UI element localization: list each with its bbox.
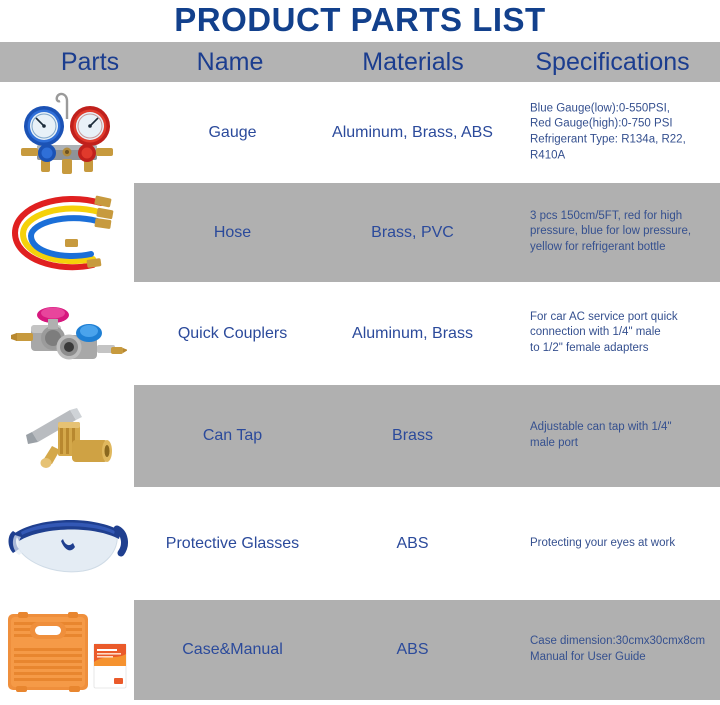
column-header-materials: Materials bbox=[318, 42, 508, 82]
row-name-cell: Gauge bbox=[145, 124, 320, 142]
charging-hoses-image bbox=[0, 183, 134, 282]
row-specifications-cell: Protecting your eyes at work bbox=[530, 536, 715, 552]
row-materials-cell: ABS bbox=[320, 641, 505, 659]
case-and-manual-image bbox=[0, 600, 134, 700]
column-header-name: Name bbox=[160, 42, 300, 82]
row-specifications-cell: Adjustable can tap with 1/4" male port bbox=[530, 420, 715, 452]
row-specifications-cell: Blue Gauge(low):0-550PSI, Red Gauge(high… bbox=[530, 101, 715, 164]
quick-couplers-image bbox=[0, 282, 134, 385]
row-name-cell: Protective Glasses bbox=[145, 535, 320, 553]
table-row: Case&Manual ABS Case dimension:30cmx30cm… bbox=[0, 600, 720, 700]
table-header-row: Parts Name Materials Specifications bbox=[0, 42, 720, 82]
table-row: Hose Brass, PVC 3 pcs 150cm/5FT, red for… bbox=[0, 183, 720, 282]
row-name-cell: Case&Manual bbox=[145, 641, 320, 659]
row-name-cell: Can Tap bbox=[145, 427, 320, 445]
row-specifications-cell: For car AC service port quick connection… bbox=[530, 310, 715, 358]
row-specifications-cell: 3 pcs 150cm/5FT, red for high pressure, … bbox=[530, 209, 715, 257]
column-header-specifications: Specifications bbox=[505, 42, 720, 82]
column-header-parts: Parts bbox=[20, 42, 160, 82]
table-row: Quick Couplers Aluminum, Brass For car A… bbox=[0, 282, 720, 385]
row-materials-cell: Brass bbox=[320, 427, 505, 445]
row-name-cell: Quick Couplers bbox=[145, 325, 320, 343]
can-tap-valve-image bbox=[0, 385, 134, 487]
row-specifications-cell: Case dimension:30cmx30cmx8cm Manual for … bbox=[530, 634, 715, 666]
row-materials-cell: Brass, PVC bbox=[320, 224, 505, 242]
row-materials-cell: Aluminum, Brass bbox=[320, 325, 505, 343]
table-row: Protective Glasses ABS Protecting your e… bbox=[0, 487, 720, 600]
table-row: Gauge Aluminum, Brass, ABS Blue Gauge(lo… bbox=[0, 82, 720, 183]
table-row: Can Tap Brass Adjustable can tap with 1/… bbox=[0, 385, 720, 487]
manifold-gauge-set-image bbox=[0, 82, 134, 183]
row-name-cell: Hose bbox=[145, 224, 320, 242]
row-materials-cell: Aluminum, Brass, ABS bbox=[320, 124, 505, 142]
protective-glasses-image bbox=[0, 487, 134, 600]
page-title: PRODUCT PARTS LIST bbox=[0, 0, 720, 42]
row-materials-cell: ABS bbox=[320, 535, 505, 553]
